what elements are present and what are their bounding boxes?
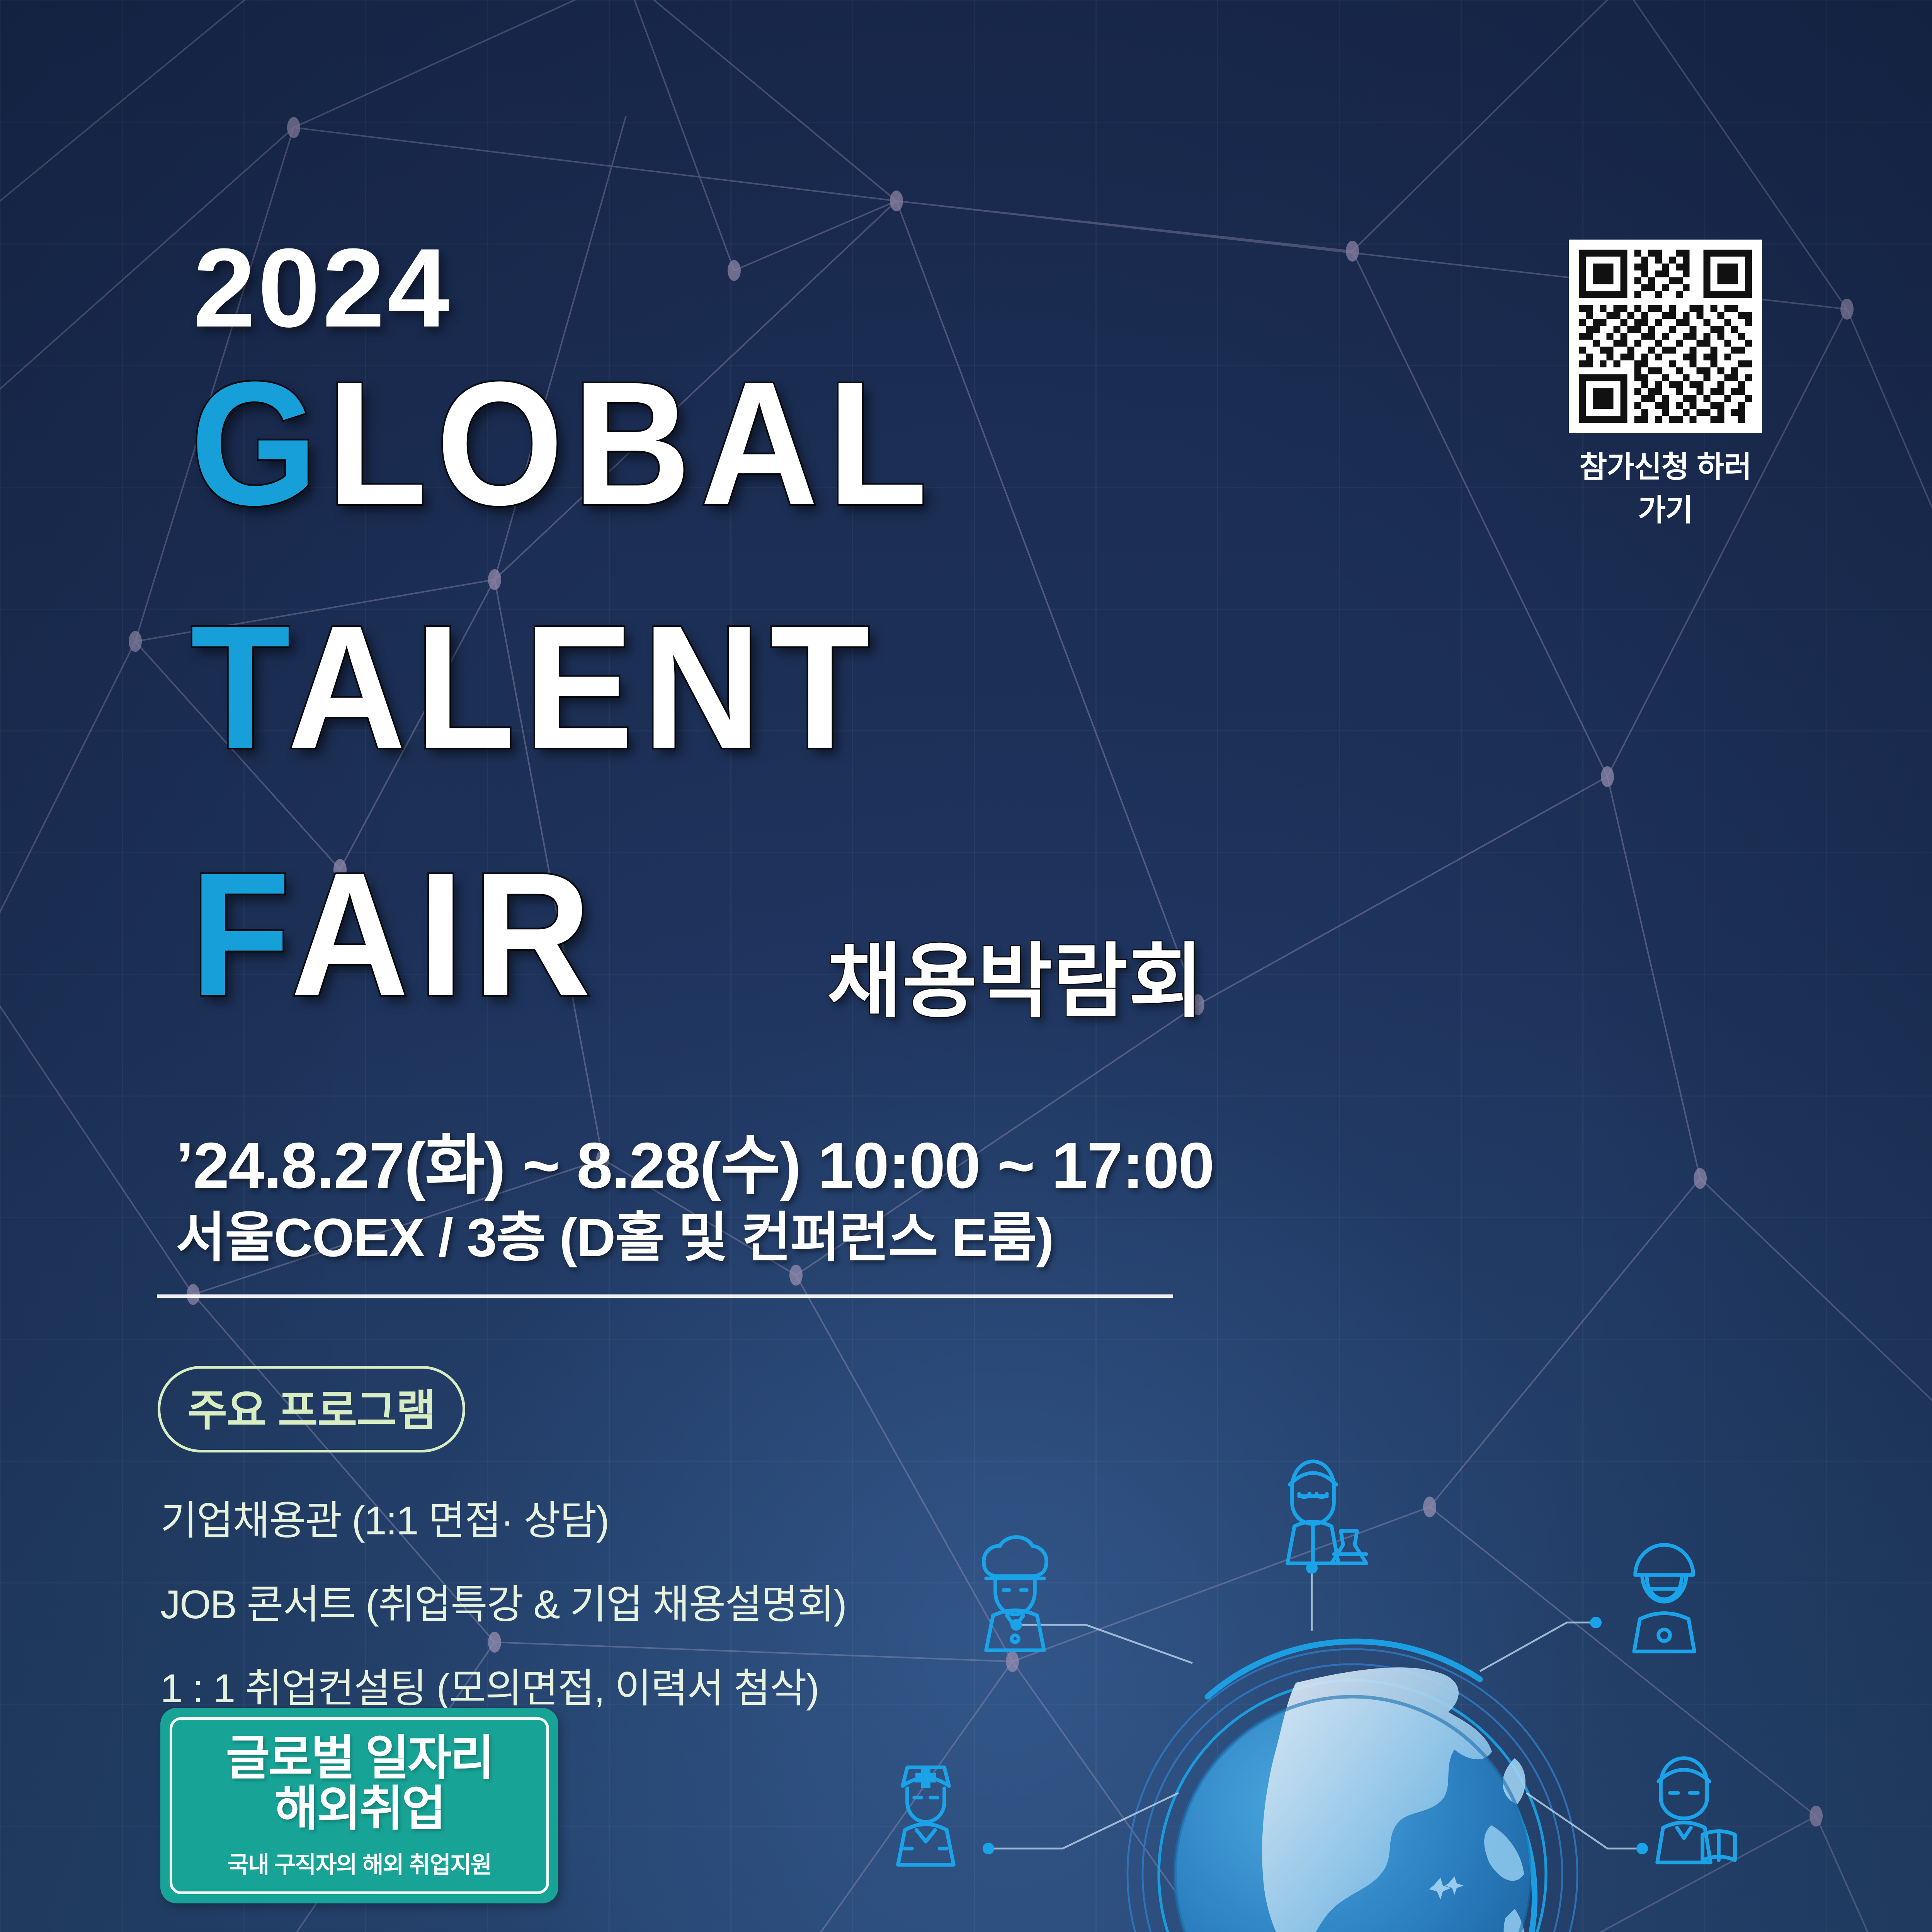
program-badge: 주요 프로그램 [158, 1366, 465, 1452]
year-label: 2024 [193, 232, 452, 344]
list-item: JOB 콘서트 (취업특강 & 기업 채용설명회) [160, 1571, 846, 1630]
card-title-line2: 해외취업 [274, 1782, 444, 1835]
title-rest-fair: AIR [291, 836, 600, 1032]
card-title: 글로벌 일자리 해외취업 [179, 1733, 539, 1835]
list-item: 기업채용관 (1:1 면접· 상담) [160, 1488, 846, 1546]
card-inner: 글로벌 일자리 해외취업 국내 구직자의 해외 취업지원 [170, 1717, 549, 1894]
qr-block[interactable]: 참가신청 하러가기 [1569, 240, 1762, 529]
title-rest-talent: ALENT [287, 589, 879, 785]
qr-code[interactable] [1569, 240, 1762, 433]
title-initial-g: G [190, 345, 327, 542]
title-initial-f: F [190, 836, 291, 1032]
title-line-talent: TALENT [190, 603, 879, 772]
globe-illustration [889, 1410, 1816, 1932]
card-title-line1: 글로벌 일자리 [226, 1731, 493, 1785]
card-subtitle: 국내 구직자의 해외 취업지원 [179, 1846, 539, 1880]
title-initial-t: T [190, 589, 287, 785]
title-line-fair: FAIR [190, 850, 600, 1019]
category-cards: 글로벌 일자리 해외취업 국내 구직자의 해외 취업지원 외국인투자기업 채용 … [160, 1708, 558, 1932]
event-venue: 서울COEX / 3층 (D홀 및 컨퍼런스 E룸) [176, 1194, 1053, 1272]
card-global-jobs: 글로벌 일자리 해외취업 국내 구직자의 해외 취업지원 [160, 1708, 558, 1903]
divider-rule [157, 1294, 1173, 1298]
qr-label[interactable]: 참가신청 하러가기 [1569, 443, 1762, 529]
title-suffix-korean: 채용박람회 [827, 916, 1204, 1033]
title-line-global: GLOBAL [190, 359, 937, 528]
list-item: 1 : 1 취업컨설팅 (모의면접, 이력서 첨삭) [160, 1655, 846, 1714]
event-date: ’24.8.27(화) ~ 8.28(수) 10:00 ~ 17:00 [176, 1113, 1214, 1207]
title-rest-global: LOBAL [327, 345, 937, 542]
poster-root: 2024 GLOBAL TALENT FAIR 채용박람회 [0, 0, 1932, 1932]
